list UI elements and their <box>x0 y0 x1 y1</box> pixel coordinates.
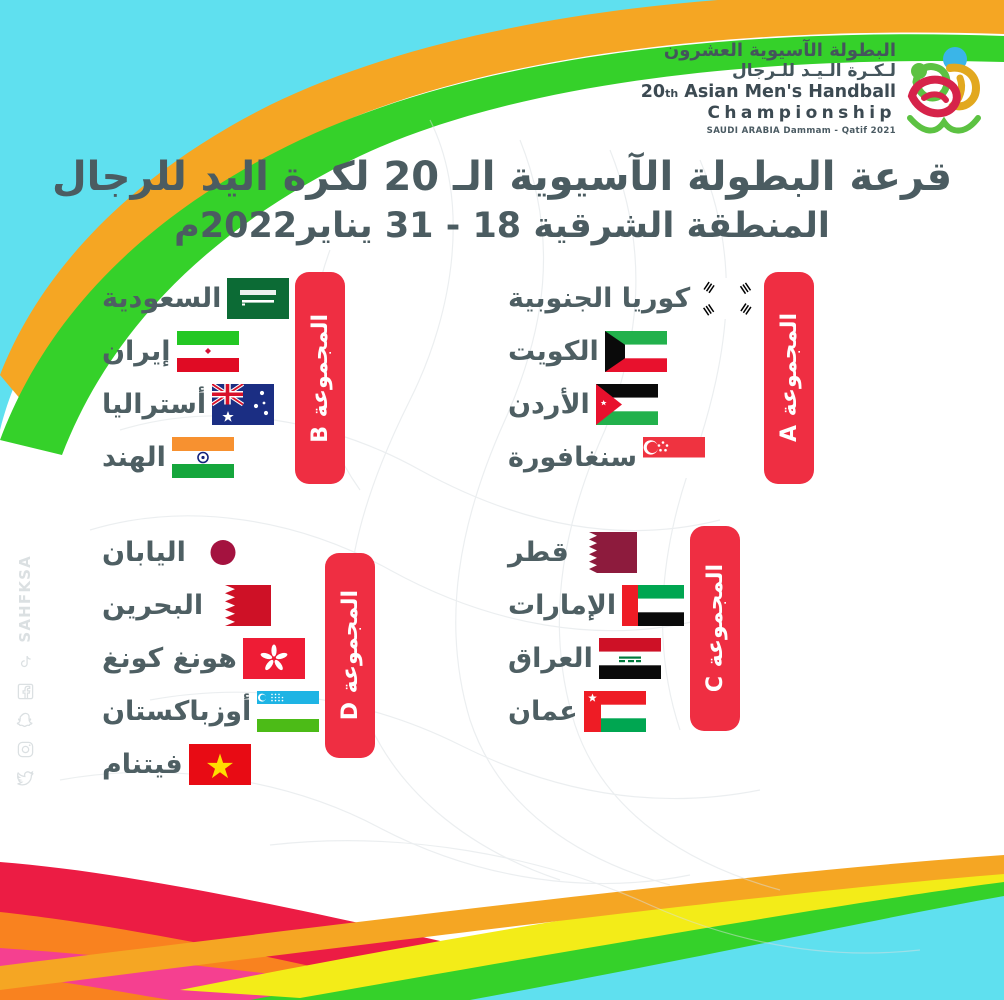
team-name: عمان <box>502 696 578 727</box>
championship-logo: البطولة الآسيوية العشرون لـكـرة الـيـد ل… <box>641 38 986 138</box>
tiktok-icon[interactable] <box>16 653 35 672</box>
group-badge-C[interactable]: المجموعة C <box>690 526 740 731</box>
team-row[interactable]: عمان <box>502 685 690 738</box>
team-name: كوريا الجنوبية <box>502 283 690 314</box>
group-badge-D[interactable]: المجموعة D <box>325 553 375 758</box>
hong-kong-flag-icon <box>237 638 311 679</box>
group-team-list-B: السعودية إيران <box>96 272 295 484</box>
team-row[interactable]: الإمارات <box>502 579 690 632</box>
saudi-arabia-flag-icon <box>221 278 295 319</box>
kuwait-flag-icon <box>599 331 673 372</box>
team-row[interactable]: سنغافورة <box>502 431 764 484</box>
team-row[interactable]: أوزباكستان <box>96 685 325 738</box>
logo-english-rest: Asian Men's Handball <box>684 82 896 102</box>
team-name: فيتنام <box>96 749 183 780</box>
team-name: هونغ كونغ <box>96 643 237 674</box>
team-name: قطر <box>502 537 569 568</box>
uae-flag-icon <box>616 585 690 626</box>
group-card-D: المجموعة D اليابان البحرين <box>96 526 502 791</box>
team-row[interactable]: البحرين <box>96 579 325 632</box>
jordan-flag-icon <box>590 384 664 425</box>
group-card-A: المجموعة A <box>502 272 908 484</box>
group-badge-label-D: المجموعة D <box>338 590 363 720</box>
logo-wordmark: البطولة الآسيوية العشرون لـكـرة الـيـد ل… <box>641 40 896 136</box>
team-row[interactable]: فيتنام <box>96 738 325 791</box>
team-row[interactable]: قطر <box>502 526 690 579</box>
team-name: أستراليا <box>96 389 206 420</box>
title-line-1: قرعة البطولة الآسيوية الـ 20 لكرة اليد ل… <box>0 152 1004 202</box>
group-badge-A[interactable]: المجموعة A <box>764 272 814 484</box>
team-row[interactable]: الأردن <box>502 378 764 431</box>
team-name: إيران <box>96 336 171 367</box>
logo-english-line-1: 20th Asian Men's Handball <box>641 82 896 103</box>
team-row[interactable]: أستراليا <box>96 378 295 431</box>
iran-flag-icon <box>171 331 245 372</box>
logo-arabic-line-2: لـكـرة الـيـد للـرجال <box>641 61 896 81</box>
handball-emblem-icon <box>902 38 986 138</box>
page-title: قرعة البطولة الآسيوية الـ 20 لكرة اليد ل… <box>0 152 1004 250</box>
group-team-list-D: اليابان البحرين <box>96 526 325 791</box>
team-row[interactable]: الهند <box>96 431 295 484</box>
team-row[interactable]: كوريا الجنوبية <box>502 272 764 325</box>
groups-grid: المجموعة B السعودية إيران <box>96 272 908 791</box>
logo-edition-suffix: th <box>665 87 678 100</box>
team-name: الأردن <box>502 389 590 420</box>
logo-arabic-line-1: البطولة الآسيوية العشرون <box>641 40 896 61</box>
team-name: الكويت <box>502 336 599 367</box>
group-card-B: المجموعة B السعودية إيران <box>96 272 502 484</box>
team-row[interactable]: الكويت <box>502 325 764 378</box>
group-team-list-A: كوريا الجنوبية الكويت الأردن <box>502 272 764 484</box>
team-name: الإمارات <box>502 590 616 621</box>
team-name: اليابان <box>96 537 186 568</box>
group-team-list-C: قطر الإمارات العراق <box>502 526 690 738</box>
logo-edition-number: 20 <box>641 82 665 102</box>
logo-host-line: SAUDI ARABIA Dammam - Qatif 2021 <box>641 126 896 136</box>
logo-english-line-2: Championship <box>641 103 896 124</box>
india-flag-icon <box>166 437 240 478</box>
team-name: أوزباكستان <box>96 696 251 727</box>
group-badge-B[interactable]: المجموعة B <box>295 272 345 484</box>
oman-flag-icon <box>578 691 652 732</box>
group-badge-label-A: المجموعة A <box>777 313 802 442</box>
team-name: العراق <box>502 643 593 674</box>
social-handle: SAHFKSA <box>16 555 34 643</box>
team-row[interactable]: هونغ كونغ <box>96 632 325 685</box>
groups-row-top: المجموعة B السعودية إيران <box>96 272 908 484</box>
team-row[interactable]: اليابان <box>96 526 325 579</box>
singapore-flag-icon <box>637 437 711 478</box>
uzbekistan-flag-icon <box>251 691 325 732</box>
group-badge-label-B: المجموعة B <box>308 314 333 443</box>
team-row[interactable]: السعودية <box>96 272 295 325</box>
team-name: سنغافورة <box>502 442 637 473</box>
group-badge-label-C: المجموعة C <box>703 564 728 692</box>
iraq-flag-icon <box>593 638 667 679</box>
title-line-2: المنطقة الشرقية 18 - 31 يناير2022م <box>0 204 1004 250</box>
japan-flag-icon <box>186 532 260 573</box>
team-name: السعودية <box>96 283 221 314</box>
poster-canvas: البطولة الآسيوية العشرون لـكـرة الـيـد ل… <box>0 0 1004 1000</box>
instagram-icon[interactable] <box>16 740 35 759</box>
group-card-C: المجموعة C قطر الإمارات <box>502 526 908 791</box>
qatar-flag-icon <box>569 532 643 573</box>
team-row[interactable]: العراق <box>502 632 690 685</box>
social-rail: SAHFKSA <box>8 555 42 788</box>
australia-flag-icon <box>206 384 280 425</box>
twitter-icon[interactable] <box>16 769 35 788</box>
vietnam-flag-icon <box>183 744 257 785</box>
south-korea-flag-icon <box>690 278 764 319</box>
facebook-icon[interactable] <box>16 682 35 701</box>
snapchat-icon[interactable] <box>16 711 35 730</box>
bahrain-flag-icon <box>203 585 277 626</box>
team-name: الهند <box>96 442 166 473</box>
team-row[interactable]: إيران <box>96 325 295 378</box>
team-name: البحرين <box>96 590 203 621</box>
groups-row-bottom: المجموعة D اليابان البحرين <box>96 526 908 791</box>
